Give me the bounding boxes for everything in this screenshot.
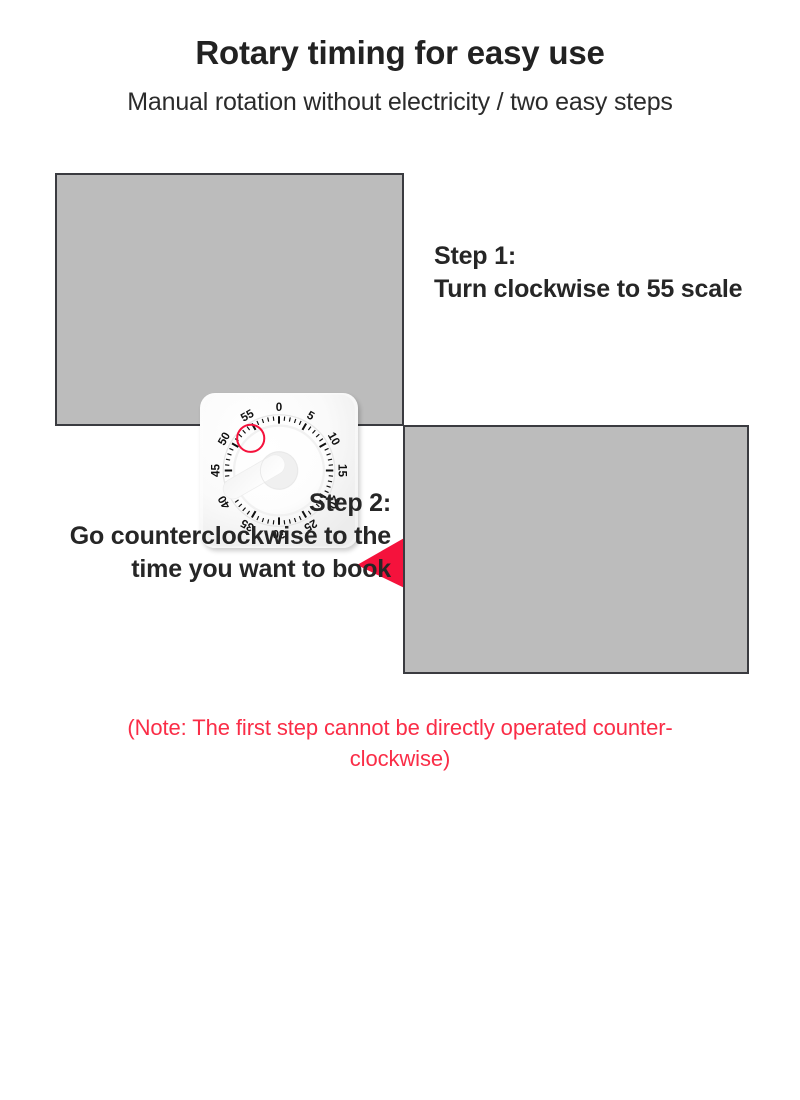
- footer-note: (Note: The first step cannot be directly…: [90, 712, 710, 774]
- dial-number-45: 45: [209, 464, 222, 477]
- infographic-page: Rotary timing for easy use Manual rotati…: [0, 0, 800, 800]
- step-1-heading: Step 1:: [434, 240, 774, 273]
- dial-number-15: 15: [336, 464, 349, 477]
- page-subtitle: Manual rotation without electricity / tw…: [0, 88, 800, 117]
- step-2-image-panel: 0510152025303540455055: [403, 425, 749, 674]
- step-2-body: Go counterclockwise to the time you want…: [40, 520, 391, 586]
- step-1-label: Step 1: Turn clockwise to 55 scale: [434, 240, 774, 306]
- step-2-label: Step 2: Go counterclockwise to the time …: [40, 487, 391, 586]
- step-1-body: Turn clockwise to 55 scale: [434, 273, 774, 306]
- step-1-image-panel: 0510152025303540455055: [55, 173, 404, 426]
- page-title: Rotary timing for easy use: [0, 34, 800, 72]
- dial-number-0: 0: [276, 401, 282, 414]
- step-2-heading: Step 2:: [40, 487, 391, 520]
